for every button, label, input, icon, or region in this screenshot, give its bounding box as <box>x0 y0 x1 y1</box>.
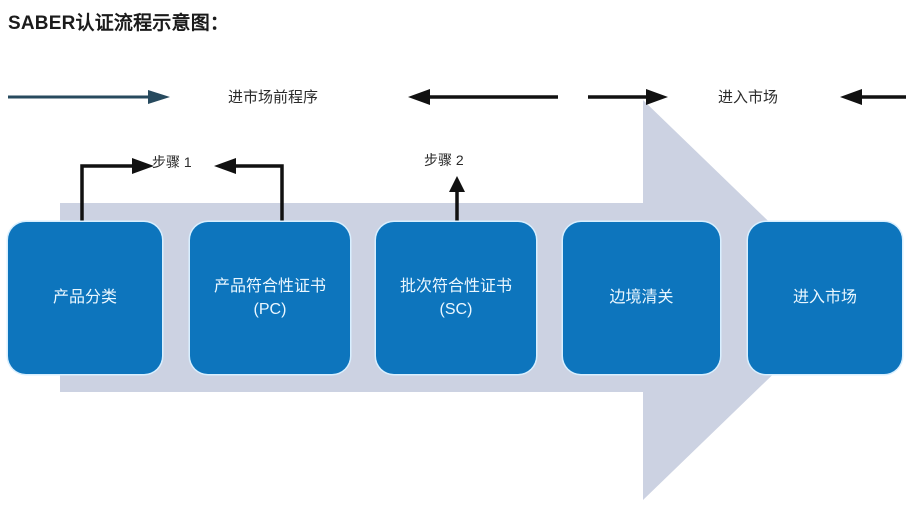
page-title: SABER认证流程示意图： <box>8 8 229 35</box>
flow-node-label: 边境清关 <box>609 286 673 309</box>
phase-label-pre-market: 进市场前程序 <box>228 86 318 107</box>
flow-node-sublabel: (PC) <box>214 298 326 321</box>
flow-node-product-certificate-of-conformity[interactable]: 产品符合性证书 (PC) <box>190 222 350 374</box>
step-2-label: 步骤 2 <box>424 150 464 170</box>
flow-node-label: 批次符合性证书 <box>400 275 512 298</box>
flow-node-label: 产品符合性证书 <box>214 275 326 298</box>
flow-node-border-clearance[interactable]: 边境清关 <box>563 222 720 374</box>
in-market-arrow-right <box>588 88 668 106</box>
step-1-label: 步骤 1 <box>152 152 192 172</box>
flow-node-enter-market[interactable]: 进入市场 <box>748 222 902 374</box>
flow-node-sublabel: (SC) <box>400 298 512 321</box>
phase-label-in-market: 进入市场 <box>718 86 778 107</box>
flow-node-label: 进入市场 <box>793 286 857 309</box>
diagram-canvas: SABER认证流程示意图： 进市场前程序 进入市场 步骤 1 步骤 2 <box>0 0 909 508</box>
in-market-arrow-left <box>840 88 906 106</box>
flow-node-shipment-certificate-of-conformity[interactable]: 批次符合性证书 (SC) <box>376 222 536 374</box>
pre-market-arrow-right <box>8 88 170 106</box>
pre-market-arrow-left <box>408 88 558 106</box>
flow-node-product-classification[interactable]: 产品分类 <box>8 222 162 374</box>
flow-node-label: 产品分类 <box>53 286 117 309</box>
